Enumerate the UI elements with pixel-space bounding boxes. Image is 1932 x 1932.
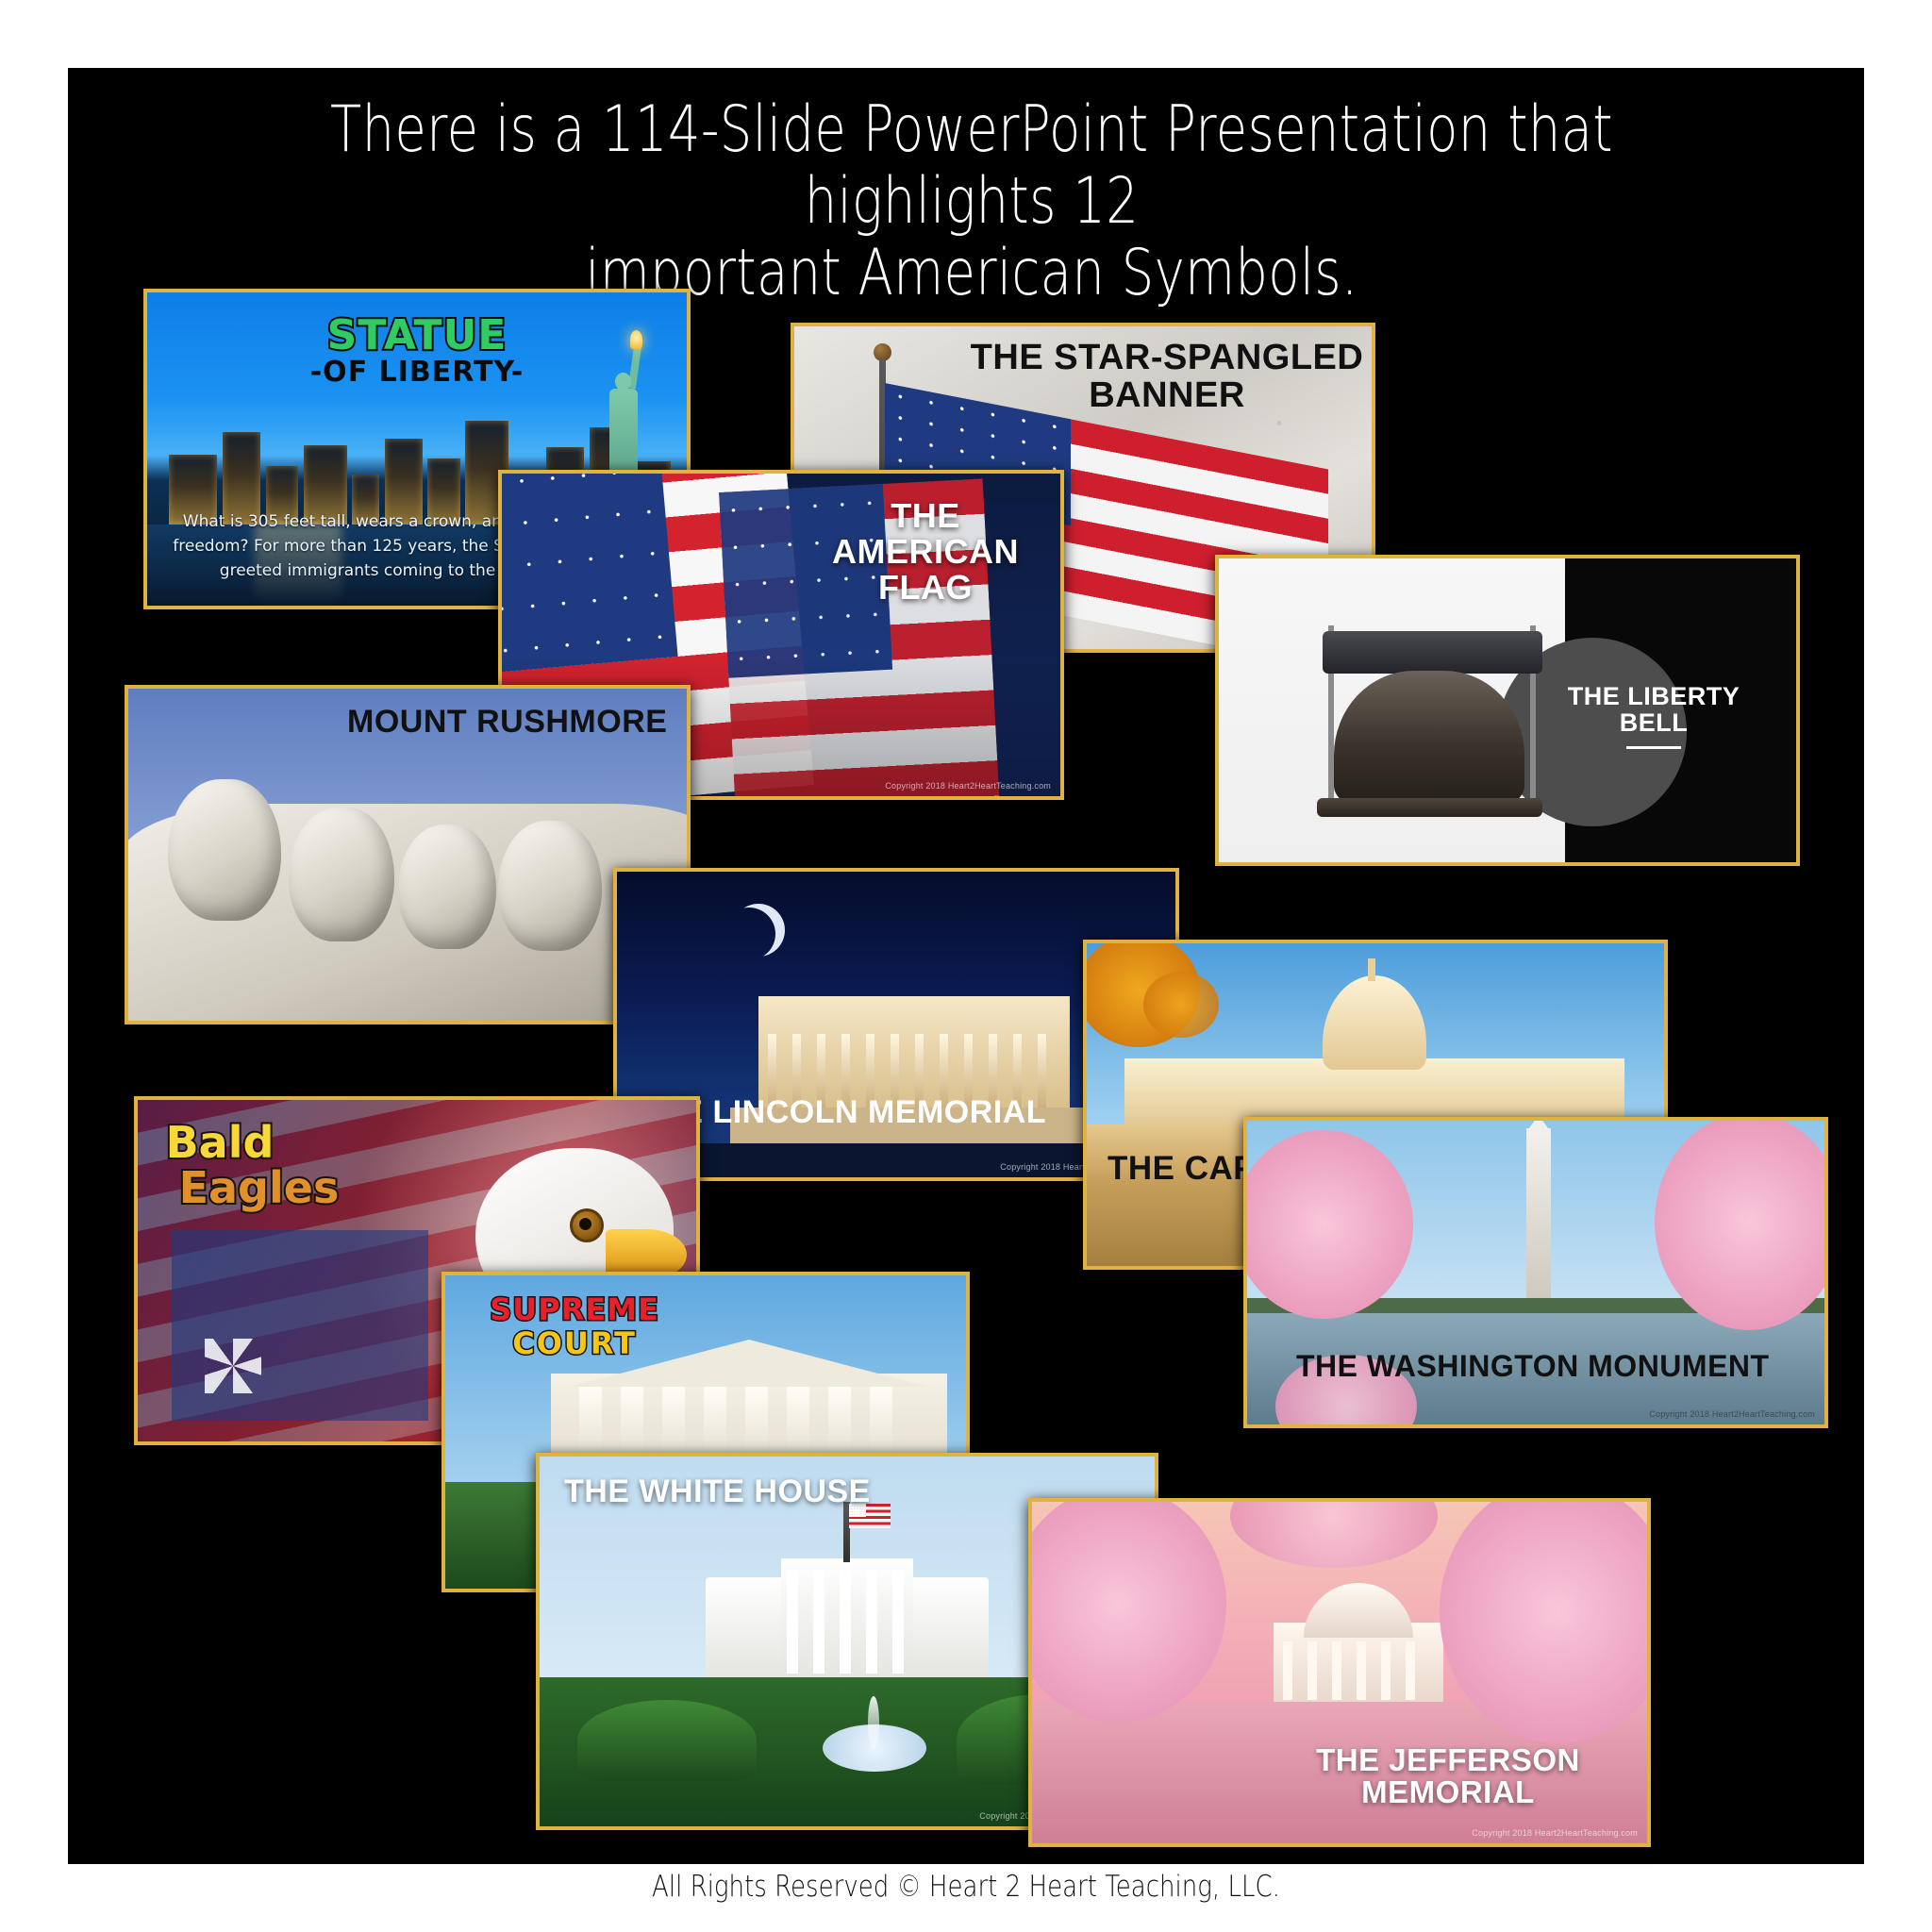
caption-line-1: THE STAR-SPANGLED bbox=[964, 340, 1370, 377]
slide-caption: THE STAR-SPANGLED BANNER bbox=[964, 340, 1370, 415]
rushmore-head-roosevelt bbox=[398, 824, 496, 949]
slide-copyright: Copyright 2018 Heart2HeartTeaching.com bbox=[1649, 1409, 1815, 1419]
poster-canvas: There is a 114-Slide PowerPoint Presenta… bbox=[0, 0, 1932, 1932]
bald-eagles-logo: Bald Eagles bbox=[166, 1117, 340, 1213]
flag-star-icon bbox=[205, 1339, 261, 1393]
caption-line-1: THE LIBERTY bbox=[1536, 683, 1772, 709]
caption-line-2: BANNER bbox=[964, 377, 1370, 415]
page-title: There is a 114-Slide PowerPoint Presenta… bbox=[285, 94, 1658, 309]
slide-mount-rushmore[interactable]: MOUNT RUSHMORE bbox=[125, 685, 691, 1024]
slide-caption: MOUNT RUSHMORE bbox=[347, 706, 667, 740]
bell-yoke bbox=[1323, 631, 1542, 674]
court-logo-line-2: COURT bbox=[466, 1325, 683, 1361]
slide-liberty-bell[interactable]: THE LIBERTY BELL bbox=[1215, 555, 1800, 866]
statue-of-liberty-logo: STATUE -OF LIBERTY- bbox=[147, 311, 687, 389]
autumn-leaves-2 bbox=[1143, 972, 1219, 1038]
jefferson-dome bbox=[1304, 1583, 1413, 1638]
cherry-blossom-cluster-left bbox=[1243, 1130, 1413, 1319]
liberty-bell-body bbox=[1334, 671, 1524, 808]
footer-credit: All Rights Reserved © Heart 2 Heart Teac… bbox=[155, 1870, 1777, 1904]
slide-caption: THE JEFFERSON MEMORIAL bbox=[1292, 1744, 1604, 1809]
caption-underline bbox=[1626, 746, 1681, 749]
slide-copyright: Copyright 2018 Heart2HeartTeaching.com bbox=[885, 781, 1051, 791]
capitol-spire bbox=[1368, 958, 1375, 981]
slide-caption: THE WASHINGTON MONUMENT bbox=[1296, 1351, 1770, 1383]
slide-washington-monument[interactable]: THE WASHINGTON MONUMENT Copyright 2018 H… bbox=[1243, 1117, 1828, 1428]
statue-logo-line-1: STATUE bbox=[147, 311, 687, 359]
jefferson-blossom-left bbox=[1028, 1498, 1226, 1723]
jefferson-blossom-top bbox=[1230, 1498, 1438, 1568]
supreme-court-logo: SUPREME COURT bbox=[466, 1291, 683, 1361]
crescent-moon-icon bbox=[732, 904, 785, 957]
rushmore-head-jefferson bbox=[289, 808, 394, 941]
hedge-left bbox=[577, 1700, 757, 1781]
slide-caption: THE AMERICAN FLAG bbox=[808, 498, 1043, 605]
eagles-logo-line-1: Bald bbox=[166, 1117, 340, 1168]
fountain-jet bbox=[868, 1696, 879, 1749]
rushmore-head-lincoln bbox=[498, 821, 602, 951]
slide-jefferson-memorial[interactable]: THE JEFFERSON MEMORIAL Copyright 2018 He… bbox=[1028, 1498, 1651, 1847]
caption-line-3: FLAG bbox=[808, 570, 1043, 606]
liberty-bell-lip bbox=[1317, 798, 1542, 816]
jefferson-columns bbox=[1283, 1641, 1434, 1700]
slide-caption: THE WHITE HOUSE bbox=[564, 1475, 871, 1509]
caption-line-2: AMERICAN bbox=[808, 534, 1043, 570]
white-house-columns bbox=[787, 1570, 909, 1674]
eagle-eye bbox=[570, 1208, 604, 1242]
capitol-dome bbox=[1323, 975, 1426, 1070]
statue-logo-line-2: -OF LIBERTY- bbox=[147, 356, 687, 389]
obelisk-cap-icon bbox=[1526, 1117, 1551, 1132]
caption-line-2: MEMORIAL bbox=[1292, 1776, 1604, 1809]
washington-monument-obelisk bbox=[1526, 1128, 1551, 1304]
eagles-logo-line-2: Eagles bbox=[179, 1162, 340, 1213]
slide-caption: THE LIBERTY BELL bbox=[1536, 683, 1772, 749]
caption-line-1: THE JEFFERSON bbox=[1292, 1744, 1604, 1777]
slide-copyright: Copyright 2018 Heart2HeartTeaching.com bbox=[1472, 1828, 1638, 1838]
rushmore-head-washington bbox=[168, 779, 281, 921]
court-logo-line-1: SUPREME bbox=[466, 1291, 683, 1327]
caption-line-2: BELL bbox=[1536, 709, 1772, 736]
page-title-line-1: There is a 114-Slide PowerPoint Presenta… bbox=[330, 92, 1613, 239]
caption-line-1: THE bbox=[808, 498, 1043, 534]
